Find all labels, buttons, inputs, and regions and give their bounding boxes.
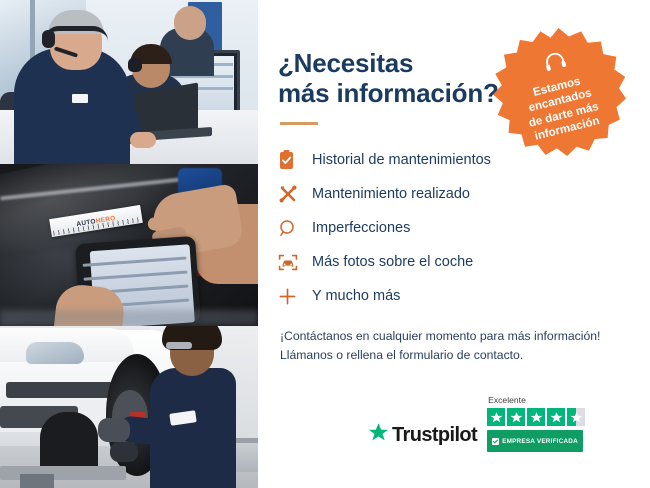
foreground-agent: [14, 48, 130, 164]
star-half-icon: [567, 408, 585, 426]
car-headlight: [26, 342, 84, 364]
feature-item-imperfections[interactable]: Imperfecciones: [278, 211, 650, 245]
feature-label: Y mucho más: [312, 288, 400, 304]
car-inspection-ruler-photo: AUTOHERO: [0, 164, 258, 326]
magnifier-icon: [278, 219, 312, 238]
headline-line-2: más información?: [278, 78, 499, 108]
car-lift-post: [20, 474, 54, 488]
information-banner: AUTOHERO: [0, 0, 650, 488]
photo-column: AUTOHERO: [0, 0, 258, 488]
tools-cross-icon: [278, 184, 312, 204]
car-lift-ramp: [0, 466, 126, 480]
star-rating: [487, 408, 585, 426]
foreground-blur: [0, 310, 258, 326]
clipboard-check-icon: [278, 150, 312, 170]
contact-line-1: ¡Contáctanos en cualquier momento para m…: [280, 327, 650, 346]
star-filled-icon: [487, 408, 505, 426]
star-filled-icon: [527, 408, 545, 426]
mechanic-figure: [150, 368, 236, 488]
safety-glasses-icon: [166, 342, 192, 349]
promo-starburst-badge: Estamos encantados de darte más informac…: [491, 28, 626, 160]
headset-earcup-icon: [42, 30, 55, 48]
verified-label: EMPRESA VERIFICADA: [502, 438, 578, 445]
verified-check-icon: [492, 432, 499, 450]
mechanic-glove: [110, 442, 138, 462]
car-frame-icon: [278, 253, 312, 272]
contact-text: ¡Contáctanos en cualquier momento para m…: [280, 327, 650, 365]
feature-label: Mantenimiento realizado: [312, 186, 470, 202]
contact-line-2: Llámanos o rellena el formulario de cont…: [280, 346, 650, 365]
call-center-agents-photo: [0, 0, 258, 164]
feature-label: Más fotos sobre el coche: [312, 254, 473, 270]
trustpilot-wordmark: Trustpilot: [392, 424, 477, 447]
star-filled-icon: [547, 408, 565, 426]
badge-text: Estamos encantados de darte más informac…: [520, 72, 603, 145]
feature-list: Historial de mantenimientos Mantenimient…: [278, 143, 650, 313]
uniform-logo: [169, 410, 196, 426]
mechanic-wheel-photo: [0, 326, 258, 488]
feature-label: Imperfecciones: [312, 220, 410, 236]
trustpilot-logo: Trustpilot: [368, 422, 477, 452]
trustpilot-rating: Excelente: [487, 395, 585, 452]
rating-label: Excelente: [488, 395, 526, 405]
mechanic-glove: [98, 418, 130, 442]
staff-name-badge: [72, 94, 88, 103]
agent-hand: [130, 132, 156, 148]
plus-icon: [278, 287, 312, 306]
feature-item-maintenance-done[interactable]: Mantenimiento realizado: [278, 177, 650, 211]
headset-icon: [542, 50, 569, 77]
badge-content: Estamos encantados de darte más informac…: [477, 14, 640, 175]
feature-item-much-more[interactable]: Y mucho más: [278, 279, 650, 313]
verified-business-badge: EMPRESA VERIFICADA: [487, 430, 583, 452]
person-head: [174, 6, 206, 40]
feature-item-more-photos[interactable]: Más fotos sobre el coche: [278, 245, 650, 279]
headset-earcup-icon: [128, 58, 142, 72]
title-divider: [280, 122, 318, 125]
trustpilot-star-icon: [368, 422, 389, 448]
trustpilot-block[interactable]: Trustpilot Excelente: [368, 395, 585, 452]
feature-label: Historial de mantenimientos: [312, 152, 491, 168]
headline-line-1: ¿Necesitas: [278, 48, 413, 78]
star-filled-icon: [507, 408, 525, 426]
